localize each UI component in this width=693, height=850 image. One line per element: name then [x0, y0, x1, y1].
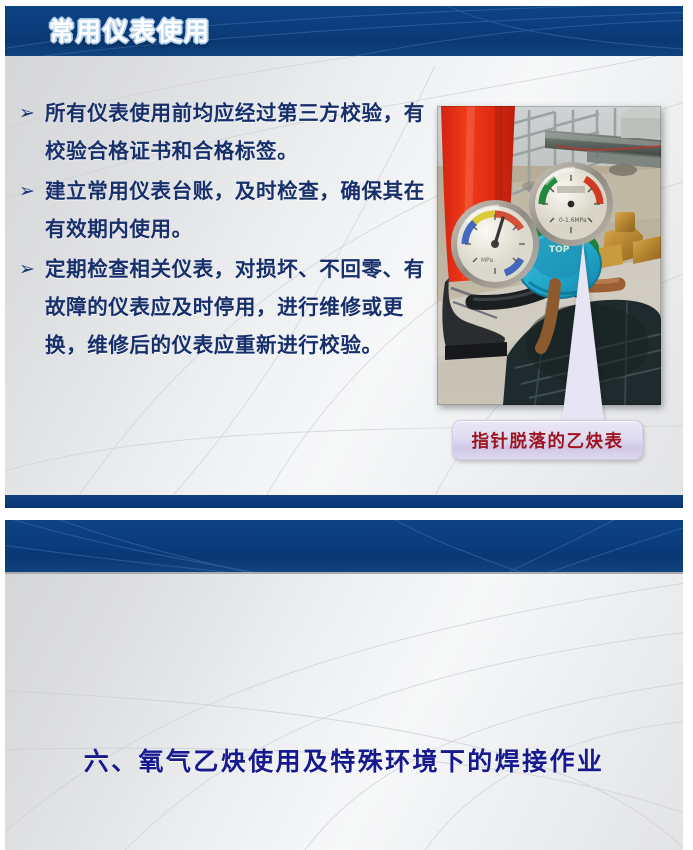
- bullet-item: ➢ 建立常用仪表台账，及时检查，确保其在有效期内使用。: [15, 172, 425, 248]
- section-title: 六、氧气乙炔使用及特殊环境下的焊接作业: [5, 742, 683, 778]
- slide2-header-band: [5, 520, 683, 574]
- callout-pointer: [561, 242, 605, 430]
- callout-label: 指针脱落的乙炔表: [452, 420, 643, 460]
- slide-deck: 常用仪表使用 ➢ 所有仪表使用前均应经过第三方校验，有校验合格证书和合格标签。 …: [0, 0, 693, 850]
- arrow-bullet-icon: ➢: [15, 94, 45, 132]
- header-streak-lines: [5, 520, 683, 572]
- slide1-header-band: 常用仪表使用: [5, 6, 683, 56]
- callout-text: 指针脱落的乙炔表: [472, 428, 624, 453]
- gauge-photo: TOP: [437, 106, 661, 405]
- arrow-bullet-icon: ➢: [15, 250, 45, 288]
- slide-section-divider: 六、氧气乙炔使用及特殊环境下的焊接作业: [5, 520, 683, 850]
- bullet-text: 建立常用仪表台账，及时检查，确保其在有效期内使用。: [45, 172, 425, 248]
- slide1-footer-band: [5, 495, 683, 508]
- bullet-text: 定期检查相关仪表，对损坏、不回零、有故障的仪表应及时停用，进行维修或更换，维修后…: [45, 250, 425, 364]
- slide-common-instrument-usage: 常用仪表使用 ➢ 所有仪表使用前均应经过第三方校验，有校验合格证书和合格标签。 …: [5, 6, 683, 508]
- slide1-title: 常用仪表使用: [49, 12, 211, 48]
- bullet-item: ➢ 定期检查相关仪表，对损坏、不回零、有故障的仪表应及时停用，进行维修或更换，维…: [15, 250, 425, 364]
- bullet-list: ➢ 所有仪表使用前均应经过第三方校验，有校验合格证书和合格标签。 ➢ 建立常用仪…: [15, 94, 425, 366]
- arrow-bullet-icon: ➢: [15, 172, 45, 210]
- svg-text:0-1.6MPa: 0-1.6MPa: [559, 217, 587, 224]
- gauge-photo-artwork: TOP: [437, 106, 661, 405]
- bullet-text: 所有仪表使用前均应经过第三方校验，有校验合格证书和合格标签。: [45, 94, 425, 170]
- bullet-item: ➢ 所有仪表使用前均应经过第三方校验，有校验合格证书和合格标签。: [15, 94, 425, 170]
